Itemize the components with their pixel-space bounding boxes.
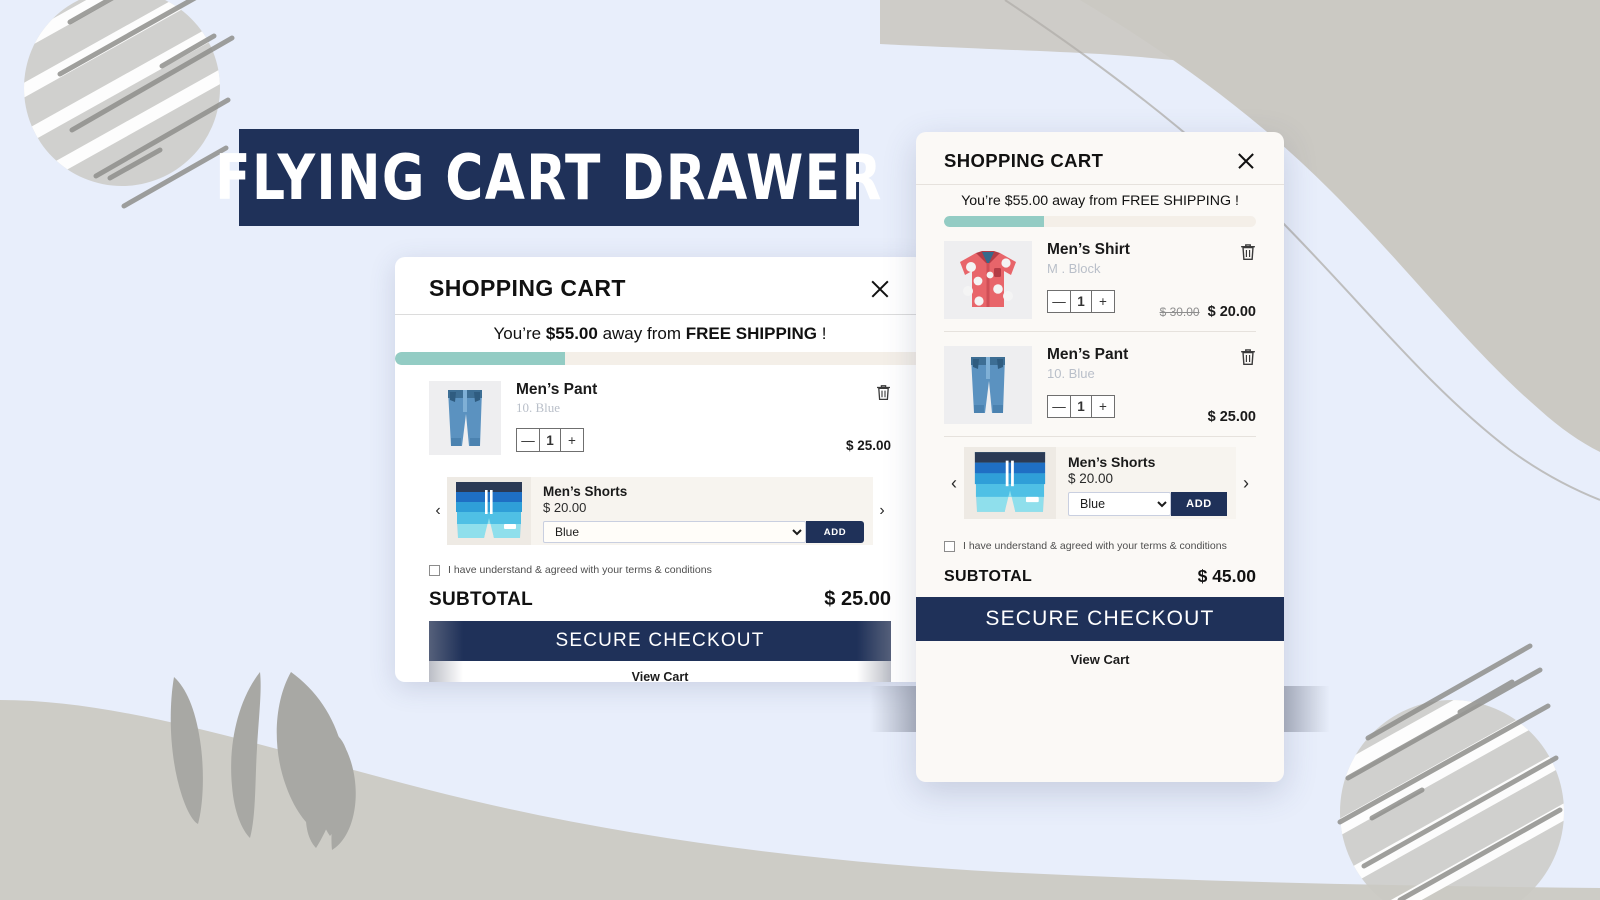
cart-drawer-front: SHOPPING CART You’re $55.00 away from FR… [916,132,1284,782]
shorts-icon [452,480,526,542]
cart-header: SHOPPING CART [429,257,891,314]
item-variant: 10. Blue [516,400,891,416]
terms-checkbox[interactable] [429,565,440,576]
shorts-thumbnail [964,447,1056,519]
quantity-stepper[interactable]: — 1 + [516,428,584,452]
item-price-group: $ 25.00 [846,438,891,453]
free-shipping-progress-bar [944,216,1256,227]
upsell-product-card: Men’s Shorts $ 20.00 Blue ADD [447,477,873,545]
quantity-value[interactable]: 1 [1070,396,1092,417]
progress-fill [944,216,1044,227]
upsell-carousel: ‹ [944,437,1256,531]
cart-drawer-back: SHOPPING CART You’re $55.00 away from FR… [395,257,925,682]
view-cart-link[interactable]: View Cart [429,661,891,682]
subtotal-value: $ 45.00 [1198,566,1256,587]
item-name: Men’s Pant [516,381,891,399]
terms-label: I have understand & agreed with your ter… [448,564,712,576]
item-price: $ 25.00 [1208,409,1256,425]
pants-thumbnail [429,381,501,455]
shipping-highlight: FREE SHIPPING [1121,193,1231,209]
pants-icon [961,353,1015,417]
checkout-area: SECURE CHECKOUT View Cart [395,621,925,682]
cart-title: SHOPPING CART [429,275,626,302]
checkout-shadow-left [870,686,916,732]
item-old-price: $ 30.00 [1160,305,1200,319]
upsell-add-button[interactable]: ADD [1171,492,1227,516]
cart-line-item: Men’s Pant 10. Blue — 1 + [944,332,1256,436]
trash-icon[interactable] [1240,243,1256,266]
view-cart-link[interactable]: View Cart [916,641,1284,667]
secure-checkout-button[interactable]: SECURE CHECKOUT [429,621,891,661]
shirt-icon [954,249,1022,311]
quantity-increase-button[interactable]: + [1092,396,1114,417]
upsell-carousel: ‹ [429,469,891,555]
terms-row: I have understand & agreed with your ter… [944,531,1256,560]
item-variant: 10. Blue [1047,366,1256,381]
carousel-prev-button[interactable]: ‹ [944,473,964,494]
page-title: FLYING CART DRAWER [215,147,883,209]
quantity-decrease-button[interactable]: — [1048,291,1070,312]
upsell-product-name: Men’s Shorts [543,484,864,499]
subtotal-label: SUBTOTAL [944,568,1032,586]
shorts-icon [970,450,1050,516]
terms-label: I have understand & agreed with your ter… [963,540,1227,552]
item-name: Men’s Shirt [1047,241,1256,259]
pants-icon [438,386,492,450]
shipping-prefix: You’re [494,324,546,343]
quantity-value[interactable]: 1 [539,429,561,451]
item-price-group: $ 25.00 [1208,409,1256,425]
upsell-variant-select[interactable]: Blue [1068,492,1171,516]
pants-thumbnail [944,346,1032,424]
terms-checkbox[interactable] [944,541,955,552]
shirt-thumbnail [944,241,1032,319]
carousel-prev-button[interactable]: ‹ [429,502,447,520]
shipping-amount: $55.00 [546,324,598,343]
subtotal-row: SUBTOTAL $ 25.00 [429,582,891,621]
quantity-stepper[interactable]: — 1 + [1047,395,1115,418]
subtotal-value: $ 25.00 [824,588,891,611]
cart-header: SHOPPING CART [944,132,1256,184]
carousel-next-button[interactable]: › [873,502,891,520]
shipping-amount: $55.00 [1005,193,1048,209]
upsell-variant-select[interactable]: Blue [543,521,806,543]
free-shipping-message: You’re $55.00 away from FREE SHIPPING ! [429,315,891,352]
shipping-highlight: FREE SHIPPING [686,324,817,343]
cart-line-item: Men’s Shirt M . Block — 1 + [944,227,1256,331]
trash-icon[interactable] [1240,348,1256,371]
checkout-shadow-right [1284,686,1330,732]
shipping-prefix: You’re [961,193,1005,209]
trash-can-glyph [1240,348,1256,366]
shipping-suffix: ! [1231,193,1239,209]
item-price: $ 25.00 [846,438,891,453]
shipping-suffix: ! [817,324,826,343]
progress-fill [395,352,565,365]
close-icon[interactable] [1236,151,1256,171]
upsell-add-button[interactable]: ADD [806,521,864,543]
item-price-group: $ 30.00 $ 20.00 [1160,304,1256,320]
terms-row: I have understand & agreed with your ter… [429,555,891,582]
quantity-decrease-button[interactable]: — [1048,396,1070,417]
subtotal-label: SUBTOTAL [429,589,533,611]
item-variant: M . Block [1047,261,1256,276]
quantity-decrease-button[interactable]: — [517,429,539,451]
slide-title-banner: FLYING CART DRAWER [239,129,859,226]
item-price: $ 20.00 [1208,304,1256,320]
quantity-increase-button[interactable]: + [561,429,583,451]
trash-can-glyph [876,384,891,401]
secure-checkout-button[interactable]: SECURE CHECKOUT [916,597,1284,641]
slide-canvas: FLYING CART DRAWER SHOPPING CART You’re … [0,0,1600,900]
free-shipping-progress-bar [395,352,925,365]
upsell-product-card: Men’s Shorts $ 20.00 Blue ADD [964,447,1236,519]
cart-title: SHOPPING CART [944,150,1103,172]
shipping-middle: away from [1048,193,1121,209]
trash-can-glyph [1240,243,1256,261]
carousel-next-button[interactable]: › [1236,473,1256,494]
checkout-area: SECURE CHECKOUT View Cart [916,597,1284,667]
quantity-stepper[interactable]: — 1 + [1047,290,1115,313]
subtotal-row: SUBTOTAL $ 45.00 [944,560,1256,597]
trash-icon[interactable] [876,384,891,406]
upsell-product-name: Men’s Shorts [1068,454,1227,470]
cart-line-item: Men’s Pant 10. Blue — 1 + [429,365,891,469]
shorts-thumbnail [447,477,531,545]
shipping-middle: away from [598,324,686,343]
close-icon[interactable] [869,278,891,300]
free-shipping-message: You’re $55.00 away from FREE SHIPPING ! [944,185,1256,216]
upsell-product-price: $ 20.00 [543,500,864,515]
quantity-value[interactable]: 1 [1070,291,1092,312]
upsell-product-price: $ 20.00 [1068,471,1227,486]
quantity-increase-button[interactable]: + [1092,291,1114,312]
item-name: Men’s Pant [1047,346,1256,364]
